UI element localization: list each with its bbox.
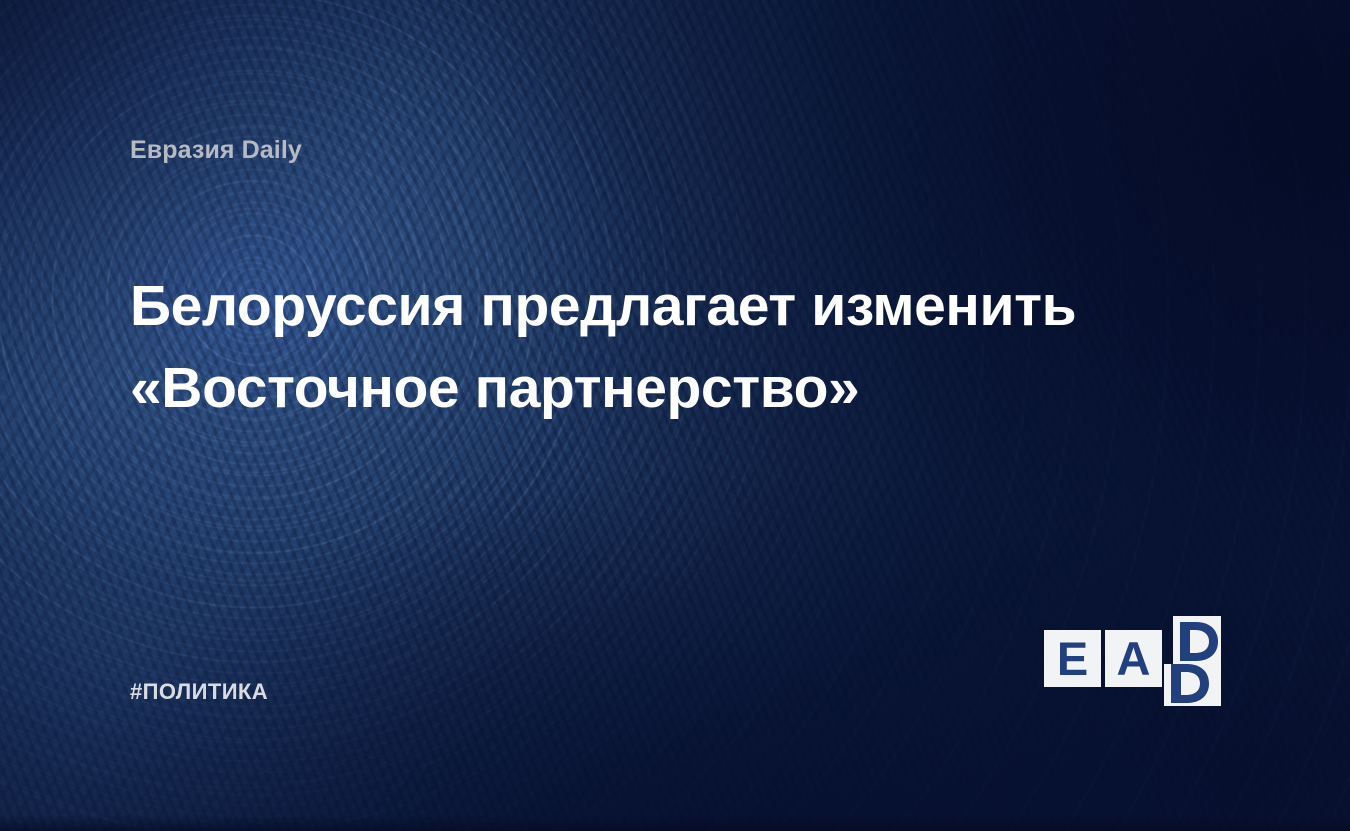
category-tag[interactable]: #ПОЛИТИКА xyxy=(130,679,268,705)
logo-glyph-e: E xyxy=(1044,630,1101,687)
logo-glyph-d xyxy=(1162,614,1222,708)
card-content: Евразия Daily Белоруссия предлагает изме… xyxy=(0,0,1350,831)
logo-glyph-d-upper xyxy=(1180,622,1218,661)
logo-glyph-a: A xyxy=(1105,630,1162,687)
ead-logo[interactable]: E A xyxy=(1044,614,1222,708)
logo-glyph-d-lower xyxy=(1171,664,1209,703)
headline-line-2: «Восточное партнерство» xyxy=(130,348,1090,430)
page-title: Белоруссия предлагает изменить «Восточно… xyxy=(130,266,1090,429)
news-card: Евразия Daily Белоруссия предлагает изме… xyxy=(0,0,1350,831)
headline-line-1: Белоруссия предлагает изменить xyxy=(130,266,1090,348)
publication-brand: Евразия Daily xyxy=(130,136,302,165)
